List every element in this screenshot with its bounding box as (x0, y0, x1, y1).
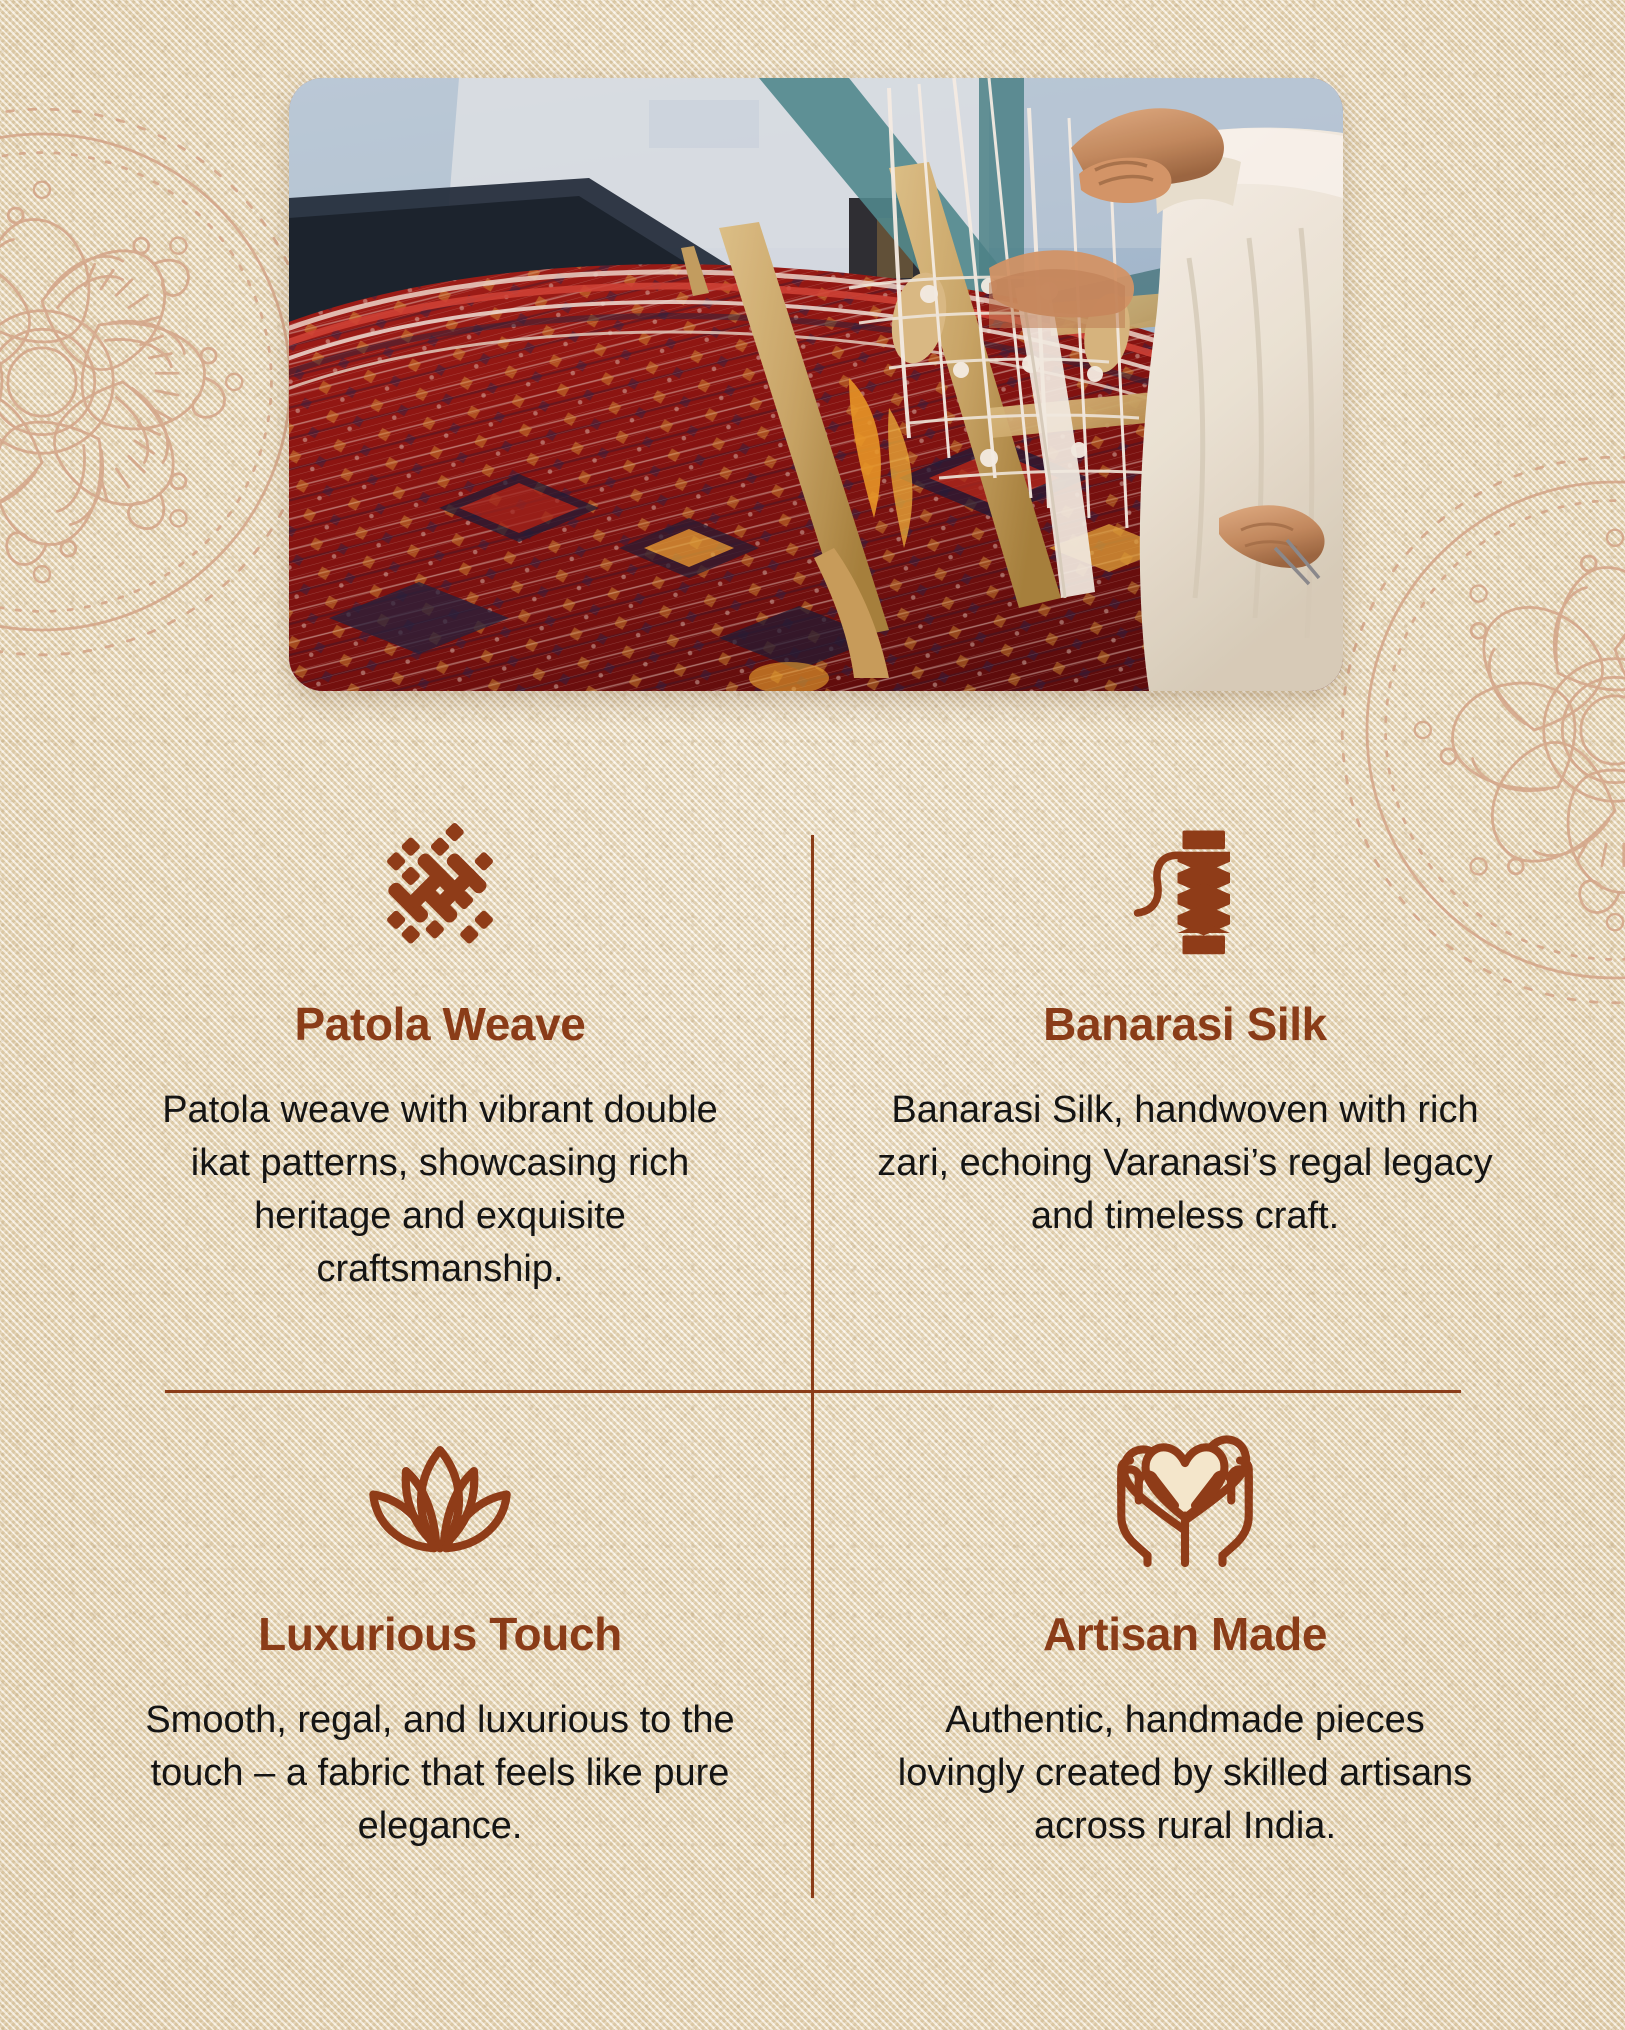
feature-description: Banarasi Silk, handwoven with rich zari,… (875, 1084, 1495, 1244)
feature-card-artisan-made: Artisan Made Authentic, handmade pieces … (855, 1425, 1515, 1853)
grid-vertical-divider (811, 835, 814, 1898)
handloom-weaving-photo (289, 78, 1343, 691)
feature-card-patola-weave: Patola Weave Patola weave with vibrant d… (110, 815, 770, 1296)
feature-title: Luxurious Touch (258, 1609, 622, 1660)
patola-weave-icon (367, 815, 513, 961)
thread-spool-icon (1110, 815, 1260, 961)
feature-description: Patola weave with vibrant double ikat pa… (140, 1084, 740, 1297)
hands-heart-icon (1110, 1425, 1260, 1571)
feature-title: Patola Weave (295, 999, 586, 1050)
feature-card-banarasi-silk: Banarasi Silk Banarasi Silk, handwoven w… (855, 815, 1515, 1243)
grid-horizontal-divider (165, 1390, 1461, 1393)
feature-title: Banarasi Silk (1043, 999, 1327, 1050)
lotus-icon (364, 1425, 516, 1571)
feature-grid: Patola Weave Patola weave with vibrant d… (0, 780, 1625, 1940)
feature-description: Smooth, regal, and luxurious to the touc… (140, 1694, 740, 1854)
hero-image-card (289, 78, 1343, 691)
feature-card-luxurious-touch: Luxurious Touch Smooth, regal, and luxur… (110, 1425, 770, 1853)
feature-description: Authentic, handmade pieces lovingly crea… (885, 1694, 1485, 1854)
feature-title: Artisan Made (1043, 1609, 1327, 1660)
